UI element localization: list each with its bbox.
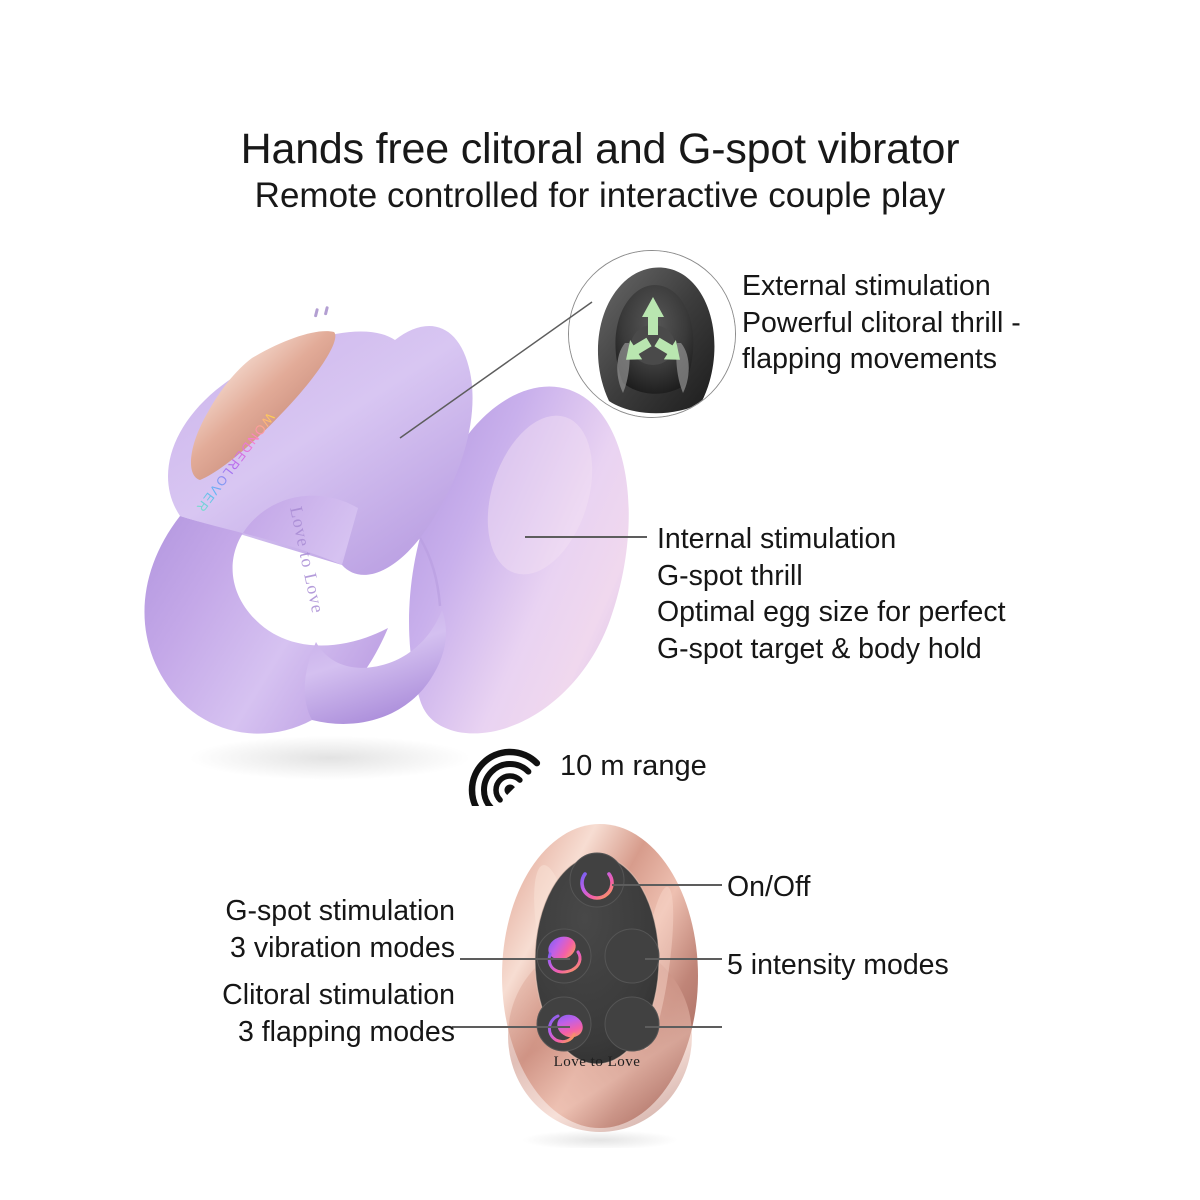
plus-button[interactable] — [605, 929, 659, 983]
leader-line-intensity-minus — [645, 1026, 722, 1028]
leader-line-onoff — [612, 884, 722, 886]
clitoral-mode-button[interactable] — [537, 997, 591, 1051]
leader-line-internal — [525, 536, 647, 538]
vent-marks-icon — [314, 306, 329, 317]
callout-internal-line-4: G-spot target & body hold — [657, 631, 1006, 668]
label-gspot-line-2: 3 vibration modes — [225, 930, 455, 967]
leader-line-clitoral — [452, 1026, 570, 1028]
callout-external-line-3: flapping movements — [742, 341, 1021, 378]
remote-brand-text: Love to Love — [554, 1054, 641, 1070]
minus-button[interactable] — [605, 997, 659, 1051]
label-onoff: On/Off — [727, 869, 810, 906]
product-shadow — [190, 736, 470, 780]
label-gspot-line-1: G-spot stimulation — [225, 893, 455, 930]
callout-internal-line-3: Optimal egg size for perfect — [657, 594, 1006, 631]
callout-external-stimulation: External stimulation Powerful clitoral t… — [742, 268, 1021, 378]
power-button[interactable] — [570, 853, 624, 907]
label-clitoral-stimulation: Clitoral stimulation 3 flapping modes — [222, 977, 455, 1050]
callout-range: 10 m range — [560, 748, 707, 785]
leader-line-gspot — [460, 958, 570, 960]
callout-internal-line-1: Internal stimulation — [657, 521, 1006, 558]
leader-line-external — [380, 280, 600, 440]
gspot-mode-button[interactable] — [537, 929, 591, 983]
remote-svg: Love to Love — [492, 818, 708, 1148]
label-clitoral-line-2: 3 flapping modes — [222, 1014, 455, 1051]
page-subtitle: Remote controlled for interactive couple… — [0, 176, 1200, 216]
label-intensity-modes: 5 intensity modes — [727, 947, 949, 984]
label-clitoral-line-1: Clitoral stimulation — [222, 977, 455, 1014]
page-title: Hands free clitoral and G-spot vibrator — [0, 126, 1200, 172]
callout-internal-line-2: G-spot thrill — [657, 558, 1006, 595]
callout-external-line-2: Powerful clitoral thrill - — [742, 305, 1021, 342]
label-gspot-stimulation: G-spot stimulation 3 vibration modes — [225, 893, 455, 966]
callout-external-line-1: External stimulation — [742, 268, 1021, 305]
wifi-signal-icon — [462, 726, 558, 806]
callout-internal-stimulation: Internal stimulation G-spot thrill Optim… — [657, 521, 1006, 667]
infographic-canvas: Hands free clitoral and G-spot vibrator … — [0, 0, 1200, 1200]
remote-shadow — [522, 1130, 678, 1148]
title-block: Hands free clitoral and G-spot vibrator … — [0, 126, 1200, 217]
leader-line-intensity-plus — [645, 958, 722, 960]
remote-control: Love to Love — [492, 818, 708, 1148]
